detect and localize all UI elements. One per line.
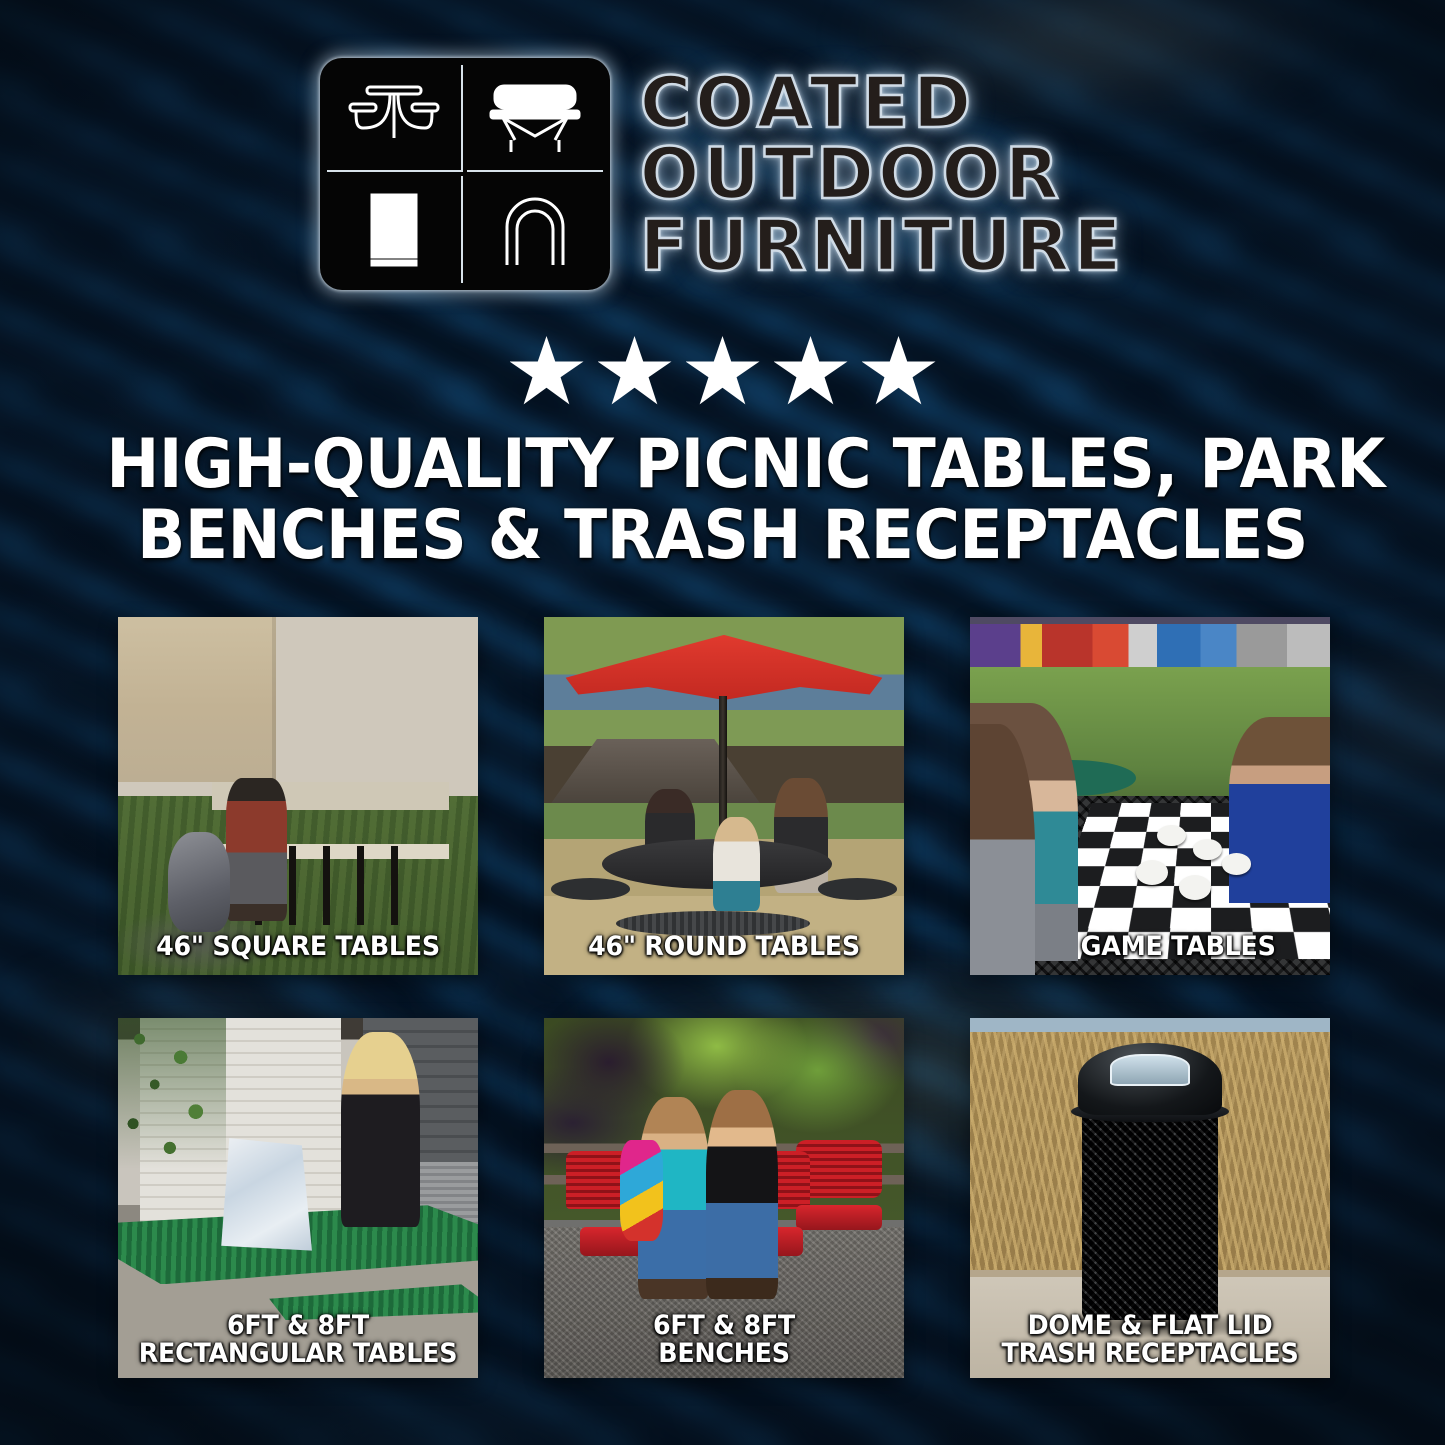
- product-tile-rectangular-tables[interactable]: 6FT & 8FT RECTANGULAR TABLES: [118, 1018, 478, 1378]
- photo-round-table-red-umbrella-family: [544, 617, 904, 975]
- product-caption-line-2: BENCHES: [559, 1340, 890, 1368]
- brand-line-3: FURNITURE: [640, 212, 1126, 281]
- headline-line-2: BENCHES & TRASH RECEPTACLES: [106, 501, 1338, 572]
- product-caption-line-1: 46" SQUARE TABLES: [133, 933, 464, 961]
- product-tile-benches[interactable]: 6FT & 8FT BENCHES: [544, 1018, 904, 1378]
- product-tile-trash-receptacles[interactable]: DOME & FLAT LID TRASH RECEPTACLES: [970, 1018, 1330, 1378]
- photo-square-table-woman-dog: [118, 617, 478, 975]
- product-tile-round-tables[interactable]: 46" ROUND TABLES: [544, 617, 904, 975]
- product-caption-line-2: TRASH RECEPTACLES: [985, 1340, 1316, 1368]
- product-tile-game-tables[interactable]: 46" GAME TABLES: [970, 617, 1330, 975]
- star-icon-5: [862, 336, 936, 408]
- picnic-table-icon: [327, 65, 463, 172]
- product-caption: 46" SQUARE TABLES: [133, 933, 464, 961]
- product-caption: 46" ROUND TABLES: [559, 933, 890, 961]
- bench-icon: [467, 65, 603, 172]
- brand-logo-mark: [320, 58, 610, 290]
- product-caption-line-1: 46" ROUND TABLES: [559, 933, 890, 961]
- photo-game-table-checkers-players: [970, 617, 1330, 975]
- product-caption-line-1: DOME & FLAT LID: [985, 1312, 1316, 1340]
- star-icon-1: [510, 336, 584, 408]
- product-caption: 6FT & 8FT RECTANGULAR TABLES: [133, 1312, 464, 1368]
- headline: HIGH-QUALITY PICNIC TABLES, PARK BENCHES…: [106, 430, 1338, 571]
- arch-bike-rack-icon: [467, 176, 603, 283]
- trash-receptacle-icon: [327, 176, 463, 283]
- star-icon-4: [774, 336, 848, 408]
- brand-line-2: OUTDOOR: [640, 140, 1126, 209]
- brand-header: COATED OUTDOOR FURNITURE: [0, 58, 1445, 290]
- product-tile-square-tables[interactable]: 46" SQUARE TABLES: [118, 617, 478, 975]
- product-grid: 46" SQUARE TABLES 46" ROUND TABLES: [118, 617, 1334, 1378]
- star-rating: [0, 336, 1445, 408]
- star-icon-3: [686, 336, 760, 408]
- marketing-poster: COATED OUTDOOR FURNITURE HIGH-QUALITY PI…: [0, 0, 1445, 1445]
- product-caption: DOME & FLAT LID TRASH RECEPTACLES: [985, 1312, 1316, 1368]
- headline-line-1: HIGH-QUALITY PICNIC TABLES, PARK: [106, 430, 1338, 501]
- brand-wordmark: COATED OUTDOOR FURNITURE: [640, 67, 1126, 281]
- brand-line-1: COATED: [640, 69, 1126, 138]
- product-caption-line-1: 6FT & 8FT: [133, 1312, 464, 1340]
- product-caption-line-1: 6FT & 8FT: [559, 1312, 890, 1340]
- product-caption-line-2: RECTANGULAR TABLES: [133, 1340, 464, 1368]
- star-icon-2: [598, 336, 672, 408]
- product-caption: 6FT & 8FT BENCHES: [559, 1312, 890, 1368]
